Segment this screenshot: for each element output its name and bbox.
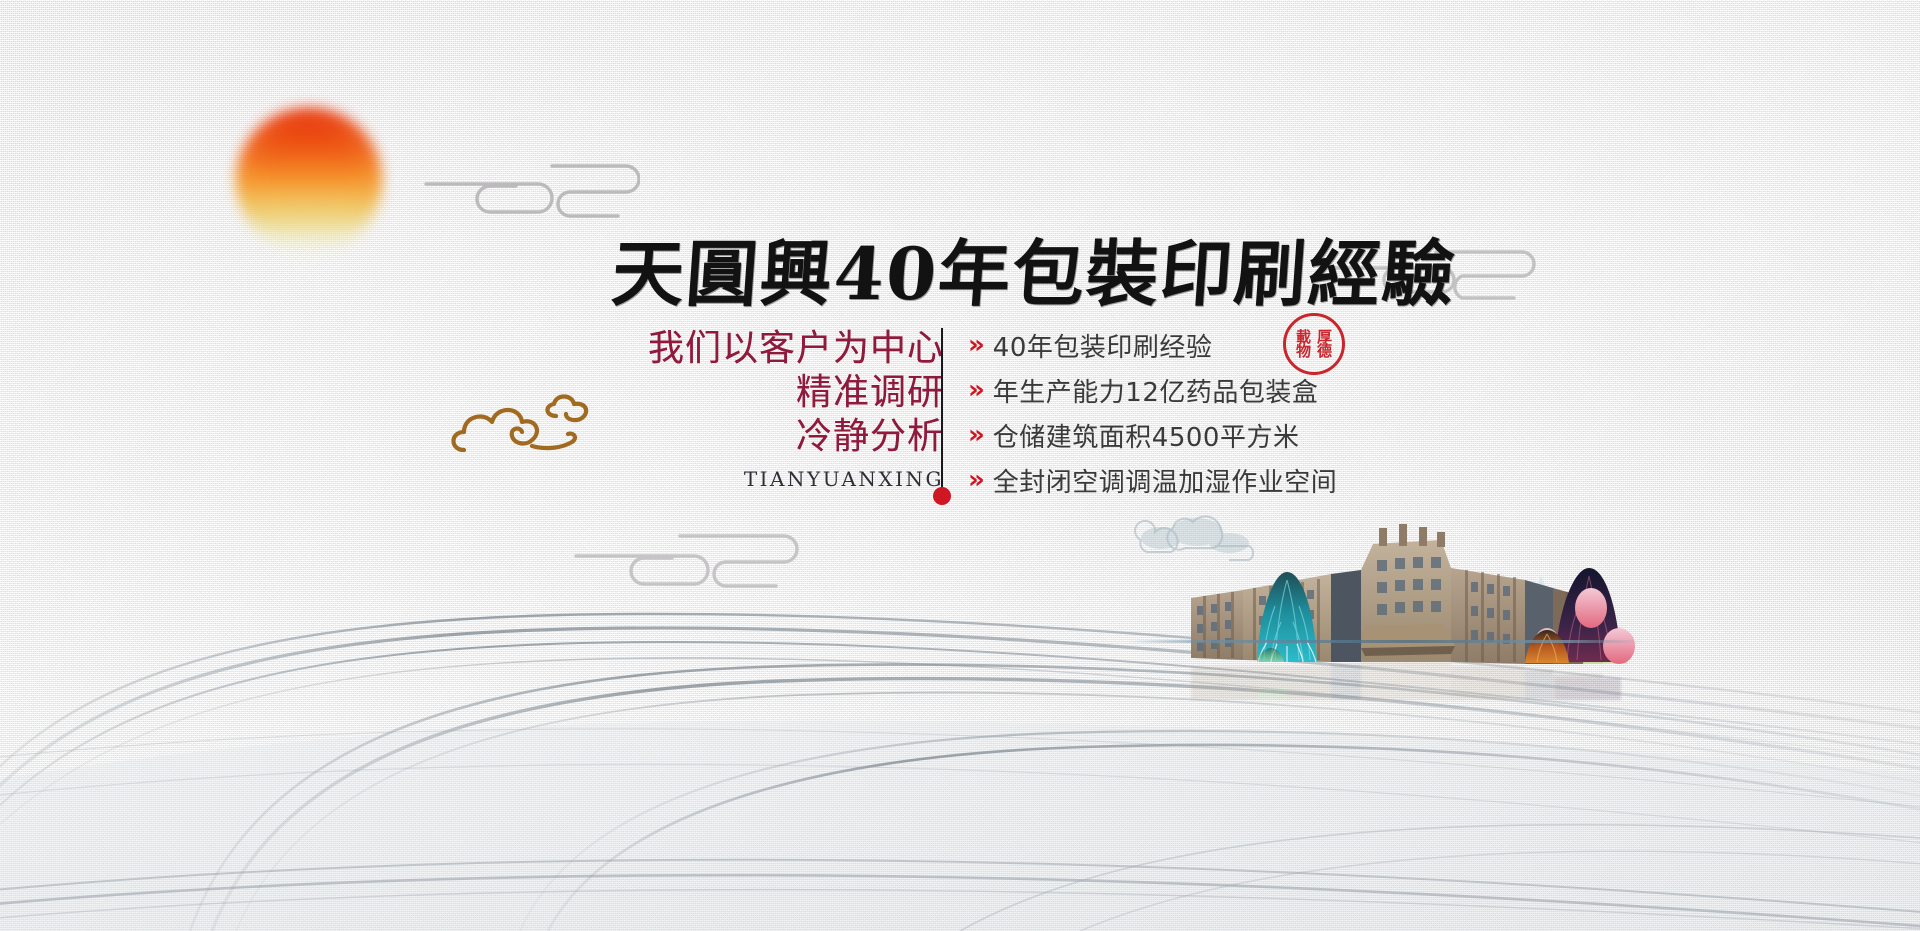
- chevron-right-icon: »: [968, 467, 985, 493]
- list-item-label: 全封闭空调调温加湿作业空间: [993, 462, 1338, 499]
- cloud-mid-left-icon: [570, 520, 800, 600]
- list-item: » 全封闭空调调温加湿作业空间: [968, 460, 1337, 500]
- cloud-top-left-icon: [420, 138, 640, 218]
- list-item-label: 40年包装印刷经验: [993, 327, 1213, 364]
- vertical-divider: [941, 328, 943, 492]
- chevron-right-icon: »: [968, 377, 985, 403]
- chevron-right-icon: »: [968, 332, 985, 358]
- auspicious-cloud-gold-icon: [448, 388, 598, 468]
- list-item: » 年生产能力12亿药品包装盒: [968, 370, 1337, 410]
- factory-building-artwork: [1125, 510, 1655, 690]
- slogan-line-3: 冷静分析: [614, 415, 944, 459]
- divider-dot: [933, 487, 951, 505]
- list-item-label: 年生产能力12亿药品包装盒: [993, 372, 1319, 409]
- page-title: 天圓興40年包裝印刷經驗: [609, 238, 1458, 310]
- slogan-line-1: 我们以客户为中心: [614, 327, 944, 371]
- chevron-right-icon: »: [968, 422, 985, 448]
- slogan-block: 我们以客户为中心 精准调研 冷静分析 TIANYUANXING: [614, 327, 944, 491]
- list-item: » 40年包装印刷经验: [968, 325, 1337, 365]
- brand-pinyin: TIANYUANXING: [614, 467, 944, 491]
- list-item-label: 仓储建筑面积4500平方米: [993, 417, 1300, 454]
- sun-core-icon: [250, 120, 368, 238]
- feature-list: » 40年包装印刷经验 » 年生产能力12亿药品包装盒 » 仓储建筑面积4500…: [968, 325, 1337, 505]
- hero-banner: 天圓興40年包裝印刷經驗 載 厚 物 德 我们以客户为中心 精准调研 冷静分析 …: [0, 0, 1920, 931]
- artwork-ground-line: [1128, 640, 1644, 643]
- slogan-line-2: 精准调研: [614, 371, 944, 415]
- list-item: » 仓储建筑面积4500平方米: [968, 415, 1337, 455]
